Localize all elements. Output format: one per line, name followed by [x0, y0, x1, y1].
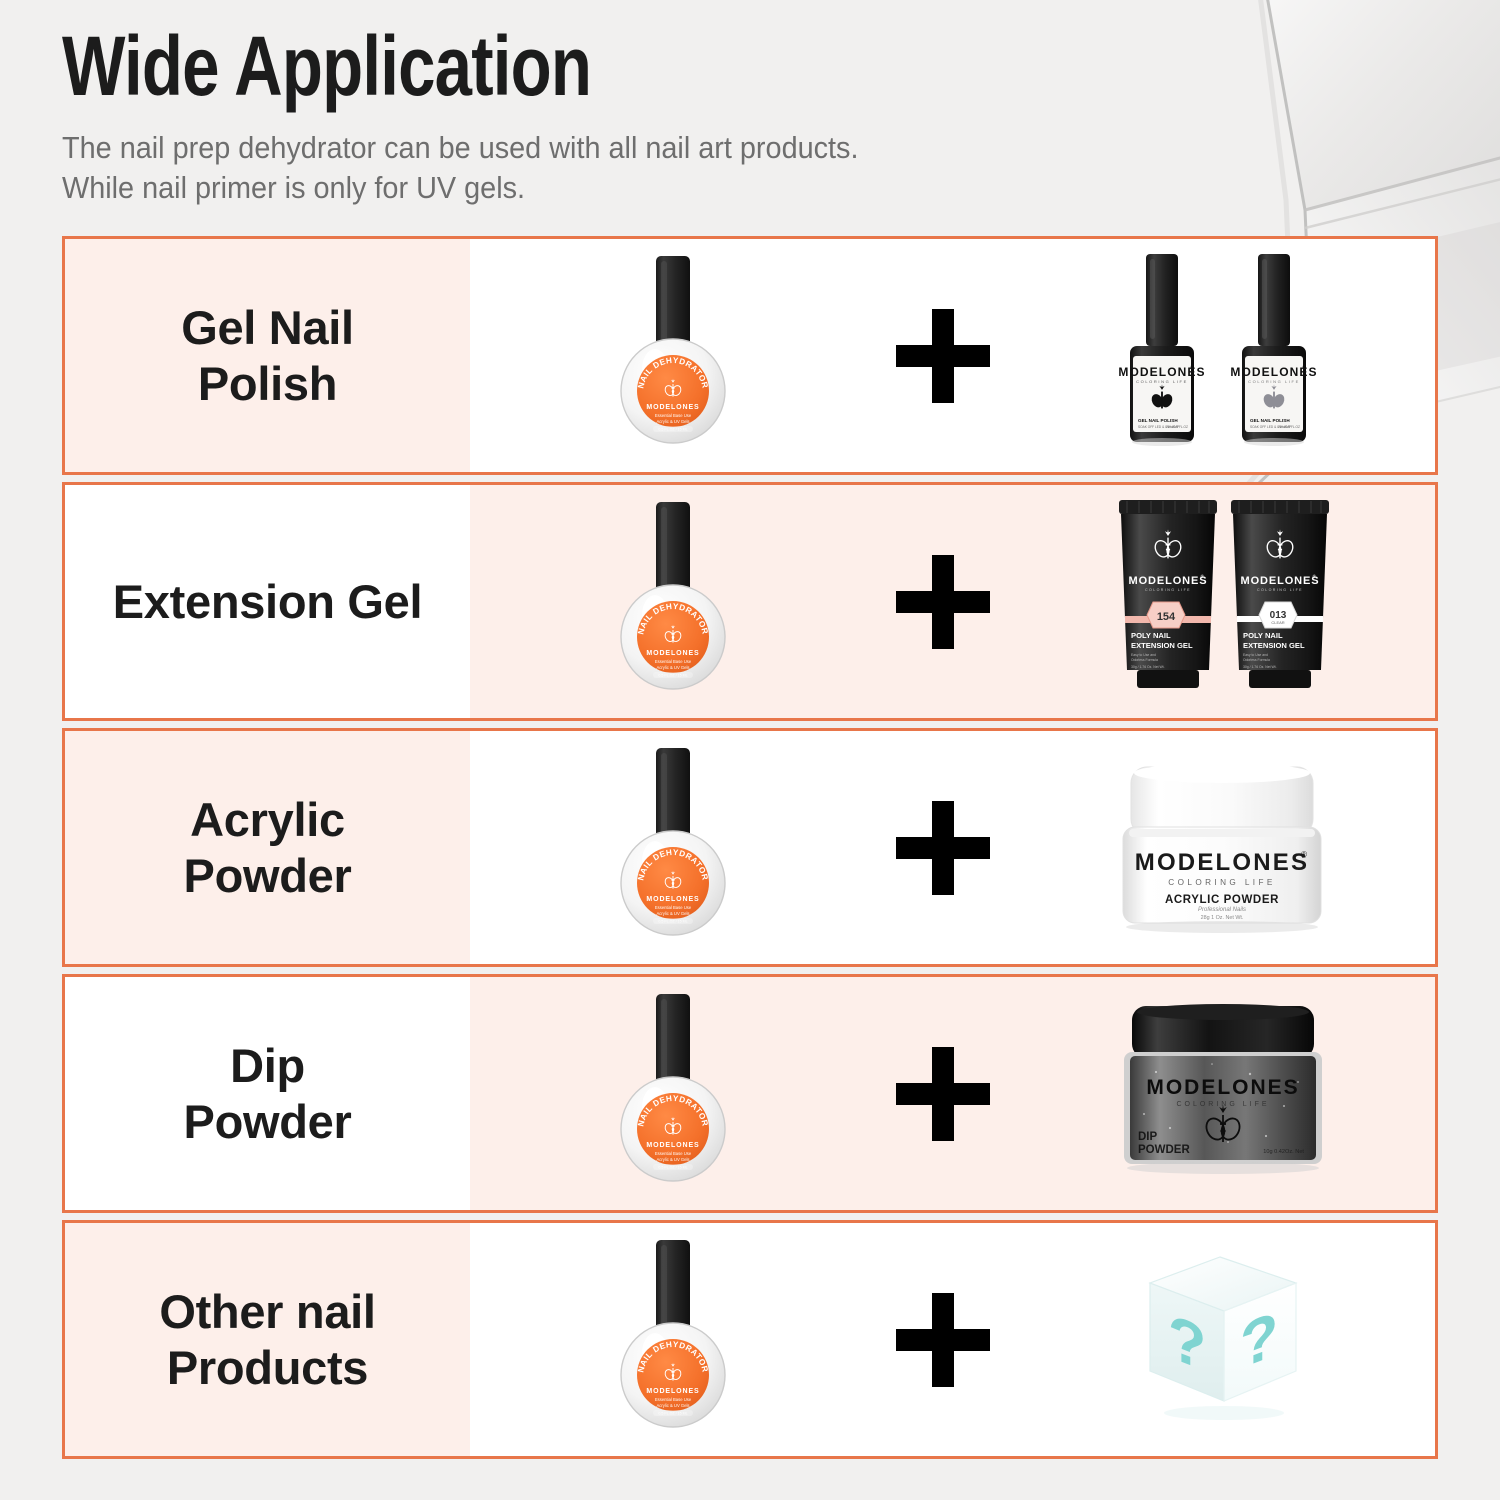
- nail-dehydrator-bottle: NAIL DEHYDRATOR MODELONES Essential Base…: [613, 1237, 733, 1442]
- plus-icon: [896, 1047, 990, 1141]
- nail-dehydrator-bottle: NAIL DEHYDRATOR MODELONES Essential Base…: [613, 745, 733, 950]
- row-label-cell: Acrylic Powder: [65, 731, 470, 964]
- svg-text:MODELONES: MODELONES: [1146, 1076, 1299, 1099]
- gel-nail-polish-bottles: MODELONES ® COLORING LIFE GEL NAIL POLIS…: [1098, 248, 1348, 463]
- svg-text:15ml/0.5 FL.OZ: 15ml/0.5 FL.OZ: [1165, 425, 1187, 429]
- svg-text:CLEAR: CLEAR: [1271, 620, 1284, 625]
- svg-text:0.5 FL.OZ / 15 ML: 0.5 FL.OZ / 15 ML: [658, 1412, 687, 1416]
- svg-text:154: 154: [1156, 611, 1175, 623]
- svg-text:Acrylic & UV Gels: Acrylic & UV Gels: [656, 665, 689, 670]
- svg-text:10g 0.42Oz. Net: 10g 0.42Oz. Net: [1263, 1149, 1304, 1155]
- svg-text:0.5 FL.OZ / 15 ML: 0.5 FL.OZ / 15 ML: [658, 428, 687, 432]
- row-content-cell: NAIL DEHYDRATOR MODELONES Essential Base…: [470, 731, 1435, 964]
- plus-icon: [896, 801, 990, 895]
- svg-text:Professional Nails: Professional Nails: [1198, 907, 1246, 913]
- row-label-cell: Extension Gel: [65, 485, 470, 718]
- dip-powder-jar: MODELONES COLORING LIFE DIP POWDER 1: [1108, 996, 1338, 1191]
- row-label-text: Other nail Products: [159, 1284, 375, 1395]
- svg-text:Essential Base Use: Essential Base Use: [654, 1397, 691, 1402]
- svg-text:0.5 FL.OZ / 15 ML: 0.5 FL.OZ / 15 ML: [658, 674, 687, 678]
- row-label-text: Extension Gel: [113, 574, 423, 629]
- svg-text:COLORING LIFE: COLORING LIFE: [1145, 588, 1191, 592]
- nail-dehydrator-bottle: NAIL DEHYDRATOR MODELONES Essential Base…: [613, 253, 733, 458]
- plus-icon: [896, 309, 990, 403]
- svg-text:COLORING LIFE: COLORING LIFE: [1257, 588, 1303, 592]
- svg-text:30g / 1.76 Oz. Net Wt.: 30g / 1.76 Oz. Net Wt.: [1243, 665, 1277, 669]
- svg-text:POWDER: POWDER: [1138, 1144, 1190, 1156]
- svg-text:GEL NAIL POLISH: GEL NAIL POLISH: [1250, 418, 1290, 423]
- application-table: Gel Nail Polish: [62, 236, 1438, 1459]
- svg-text:MODELONES: MODELONES: [646, 404, 699, 411]
- svg-text:MODELONES: MODELONES: [646, 1142, 699, 1149]
- svg-text:0.5 FL.OZ / 15 ML: 0.5 FL.OZ / 15 ML: [658, 1166, 687, 1170]
- svg-text:MODELONES: MODELONES: [646, 650, 699, 657]
- table-row: Extension Gel NAIL DEHYDRATOR: [62, 482, 1438, 721]
- poly-extension-gel-tubes: MODELONES ® COLORING LIFE 154 POLY NAIL …: [1103, 494, 1343, 709]
- question-mark-cube: ? ?: [1128, 1245, 1318, 1435]
- svg-text:POLY NAIL: POLY NAIL: [1131, 631, 1171, 640]
- plus-icon: [896, 1293, 990, 1387]
- nail-dehydrator-bottle: NAIL DEHYDRATOR MODELONES Essential Base…: [613, 499, 733, 704]
- plus-icon: [896, 555, 990, 649]
- row-label-text: Gel Nail Polish: [181, 300, 354, 411]
- row-content-cell: NAIL DEHYDRATOR MODELONES Essential Base…: [470, 1223, 1435, 1456]
- svg-text:®: ®: [1302, 364, 1306, 371]
- svg-text:Odorless Formula: Odorless Formula: [1243, 658, 1270, 662]
- svg-text:Acrylic & UV Gels: Acrylic & UV Gels: [656, 911, 689, 916]
- row-label-text: Dip Powder: [184, 1038, 352, 1149]
- page-subtitle: The nail prep dehydrator can be used wit…: [62, 128, 858, 209]
- svg-text:30g / 1.76 Oz. Net Wt.: 30g / 1.76 Oz. Net Wt.: [1131, 665, 1165, 669]
- svg-text:GEL NAIL POLISH: GEL NAIL POLISH: [1138, 418, 1178, 423]
- svg-text:DIP: DIP: [1138, 1131, 1158, 1143]
- table-row: Other nail Products NAIL DEHYDRATOR: [62, 1220, 1438, 1459]
- svg-text:EXTENSION GEL: EXTENSION GEL: [1243, 641, 1305, 650]
- svg-text:Essential Base Use: Essential Base Use: [654, 1151, 691, 1156]
- svg-text:Acrylic & UV Gels: Acrylic & UV Gels: [656, 1157, 689, 1162]
- page-title: Wide Application: [62, 24, 747, 110]
- table-row: Acrylic Powder NAIL DEHYDRATOR: [62, 728, 1438, 967]
- svg-text:?: ?: [1240, 1296, 1278, 1381]
- svg-text:28g 1 Oz. Net Wt.: 28g 1 Oz. Net Wt.: [1201, 915, 1244, 921]
- svg-text:Essential Base Use: Essential Base Use: [654, 905, 691, 910]
- svg-text:Odorless Formula: Odorless Formula: [1131, 658, 1158, 662]
- svg-text:MODELONES: MODELONES: [1240, 575, 1319, 587]
- row-label-cell: Gel Nail Polish: [65, 239, 470, 472]
- svg-text:?: ?: [1168, 1299, 1206, 1384]
- svg-text:MODELONES: MODELONES: [1128, 575, 1207, 587]
- row-label-cell: Other nail Products: [65, 1223, 470, 1456]
- svg-text:15ml/0.5 FL.OZ: 15ml/0.5 FL.OZ: [1277, 425, 1299, 429]
- acrylic-powder-jar: MODELONES ® COLORING LIFE ACRYLIC POWDER…: [1105, 753, 1340, 943]
- svg-text:ACRYLIC POWDER: ACRYLIC POWDER: [1165, 894, 1279, 906]
- svg-text:MODELONES: MODELONES: [646, 896, 699, 903]
- svg-text:Easy to Use and: Easy to Use and: [1131, 653, 1156, 657]
- svg-text:EXTENSION GEL: EXTENSION GEL: [1131, 641, 1193, 650]
- row-label-text: Acrylic Powder: [184, 792, 352, 903]
- svg-text:MODELONES: MODELONES: [646, 1388, 699, 1395]
- svg-text:Easy to Use and: Easy to Use and: [1243, 653, 1268, 657]
- row-content-cell: NAIL DEHYDRATOR MODELONES Essential Base…: [470, 977, 1435, 1210]
- nail-dehydrator-bottle: NAIL DEHYDRATOR MODELONES Essential Base…: [613, 991, 733, 1196]
- svg-text:COLORING LIFE: COLORING LIFE: [1136, 379, 1188, 384]
- svg-text:POLY NAIL: POLY NAIL: [1243, 631, 1283, 640]
- svg-text:0.5 FL.OZ / 15 ML: 0.5 FL.OZ / 15 ML: [658, 920, 687, 924]
- table-row: Dip Powder NAIL DEHYDRATOR: [62, 974, 1438, 1213]
- row-content-cell: NAIL DEHYDRATOR MODELONES Essential Base…: [470, 239, 1435, 472]
- page-header: Wide Application The nail prep dehydrato…: [62, 24, 918, 208]
- svg-text:®: ®: [1301, 850, 1307, 859]
- svg-text:COLORING LIFE: COLORING LIFE: [1248, 379, 1300, 384]
- row-content-cell: NAIL DEHYDRATOR MODELONES Essential Base…: [470, 485, 1435, 718]
- svg-text:Acrylic & UV Gels: Acrylic & UV Gels: [656, 1403, 689, 1408]
- row-label-cell: Dip Powder: [65, 977, 470, 1210]
- svg-text:Essential Base Use: Essential Base Use: [654, 413, 691, 418]
- svg-text:Essential Base Use: Essential Base Use: [654, 659, 691, 664]
- table-row: Gel Nail Polish: [62, 236, 1438, 475]
- svg-text:COLORING LIFE: COLORING LIFE: [1168, 878, 1275, 887]
- svg-text:®: ®: [1190, 364, 1194, 371]
- svg-text:Acrylic & UV Gels: Acrylic & UV Gels: [656, 419, 689, 424]
- svg-text:MODELONES: MODELONES: [1135, 849, 1309, 876]
